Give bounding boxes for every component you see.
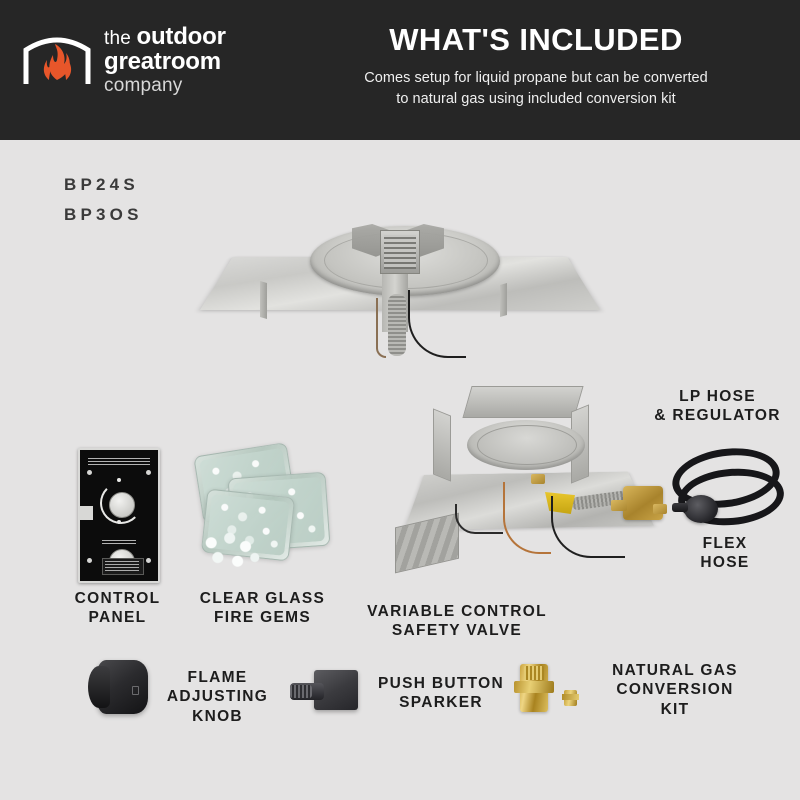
control-panel-sparker-text xyxy=(102,540,136,545)
model-number-bp24s: BP24S xyxy=(64,175,139,195)
label-conversion-kit-line3: KIT xyxy=(580,700,770,719)
header-text-block: WHAT'S INCLUDED Comes setup for liquid p… xyxy=(290,22,782,110)
brass-fitting-2 xyxy=(653,504,667,514)
control-panel-brand-plate xyxy=(102,558,144,575)
label-fire-gems-line1: CLEAR GLASS xyxy=(180,589,345,608)
label-lp-hose-line1: LP HOSE xyxy=(640,387,795,406)
safety-valve-body xyxy=(623,486,663,520)
header-subtitle-line1: Comes setup for liquid propane but can b… xyxy=(290,68,782,89)
control-panel-photo xyxy=(78,448,160,583)
burner-pan-cover-plate xyxy=(395,513,459,574)
control-panel-dial-mark-low xyxy=(117,520,121,524)
brass-orifice-fitting xyxy=(520,664,548,712)
pan-burner-core xyxy=(380,230,420,274)
label-fire-gems-line2: FIRE GEMS xyxy=(180,608,345,627)
logo-line3: company xyxy=(104,76,226,95)
label-conversion-kit: NATURAL GAS CONVERSION KIT xyxy=(580,661,770,719)
push-button-sparker-photo xyxy=(288,668,362,722)
natural-gas-conversion-kit-photo xyxy=(512,662,590,722)
clear-glass-fire-gems-photo xyxy=(190,445,330,585)
control-panel-screw-tr xyxy=(146,470,151,475)
label-lp-hose: LP HOSE & REGULATOR xyxy=(640,387,795,426)
thermocouple-wire xyxy=(503,482,551,554)
header-bar: the outdoor greatroom company WHAT'S INC… xyxy=(0,0,800,140)
label-control-panel-line1: CONTROL xyxy=(45,589,190,608)
control-panel-instruction-text xyxy=(88,458,150,466)
control-panel-screw-bl xyxy=(87,558,92,563)
label-sparker-line1: PUSH BUTTON xyxy=(362,674,520,693)
control-panel-dial-mark-high xyxy=(117,478,121,482)
label-flex-hose-line1: FLEX xyxy=(665,534,785,553)
lp-regulator xyxy=(684,495,718,523)
pan-ignition-wire xyxy=(408,290,466,358)
flame-adjusting-knob-photo xyxy=(88,656,152,718)
lower-pan-burner-ring-inner xyxy=(477,425,577,465)
ignition-wire xyxy=(551,496,625,558)
knob-skirt xyxy=(88,666,110,708)
sparker-threads xyxy=(290,685,312,698)
pan-leg-right xyxy=(500,283,507,317)
control-panel-screw-br xyxy=(146,558,151,563)
label-safety-valve-line1: VARIABLE CONTROL xyxy=(352,602,562,621)
lower-pan-wall-left xyxy=(433,408,451,481)
flame-adjust-dial[interactable] xyxy=(109,492,135,518)
whats-included-infographic: the outdoor greatroom company WHAT'S INC… xyxy=(0,0,800,800)
label-lp-hose-line2: & REGULATOR xyxy=(640,406,795,425)
pan-thermocouple-wire xyxy=(376,298,386,358)
brass-nipple-fitting xyxy=(564,690,577,706)
stainless-burner-pan-photo xyxy=(200,178,600,358)
fireplace-flame-logo-icon xyxy=(22,24,92,96)
control-panel-face xyxy=(78,448,160,583)
ground-wire xyxy=(455,504,503,534)
pan-leg-left xyxy=(260,281,267,319)
label-sparker: PUSH BUTTON SPARKER xyxy=(362,674,520,713)
brand-wordmark: the outdoor greatroom company xyxy=(104,25,226,95)
pan-flex-hose xyxy=(388,294,406,356)
label-sparker-line2: SPARKER xyxy=(362,693,520,712)
model-number-bp30s: BP3OS xyxy=(64,205,143,225)
label-flex-hose: FLEX HOSE xyxy=(665,534,785,573)
label-flame-knob-line1: FLAME xyxy=(145,668,290,687)
header-subtitle: Comes setup for liquid propane but can b… xyxy=(290,68,782,110)
fire-gems-loose-pile xyxy=(198,529,264,575)
page-title: WHAT'S INCLUDED xyxy=(290,22,782,58)
lp-regulator-inlet xyxy=(672,503,688,512)
label-conversion-kit-line1: NATURAL GAS xyxy=(580,661,770,680)
label-safety-valve: VARIABLE CONTROL SAFETY VALVE xyxy=(352,602,562,641)
label-flame-knob: FLAME ADJUSTING KNOB xyxy=(145,668,290,726)
logo-line1-light: the xyxy=(104,28,137,49)
label-control-panel: CONTROL PANEL xyxy=(45,589,190,628)
label-flex-hose-line2: HOSE xyxy=(665,553,785,572)
label-fire-gems: CLEAR GLASS FIRE GEMS xyxy=(180,589,345,628)
label-flame-knob-line3: KNOB xyxy=(145,707,290,726)
logo-line2: greatroom xyxy=(104,50,226,74)
brand-logo: the outdoor greatroom company xyxy=(22,24,226,96)
knob-indicator-mark xyxy=(132,686,139,695)
label-safety-valve-line2: SAFETY VALVE xyxy=(352,621,562,640)
control-panel-side-tag xyxy=(79,506,93,520)
header-subtitle-line2: to natural gas using included conversion… xyxy=(290,89,782,110)
label-conversion-kit-line2: CONVERSION xyxy=(580,680,770,699)
label-flame-knob-line2: ADJUSTING xyxy=(145,687,290,706)
lp-hose-regulator-photo xyxy=(668,443,778,535)
label-control-panel-line2: PANEL xyxy=(45,608,190,627)
logo-line1-bold: outdoor xyxy=(137,23,226,50)
control-panel-screw-tl xyxy=(87,470,92,475)
lower-pan-wall-back xyxy=(462,386,583,418)
